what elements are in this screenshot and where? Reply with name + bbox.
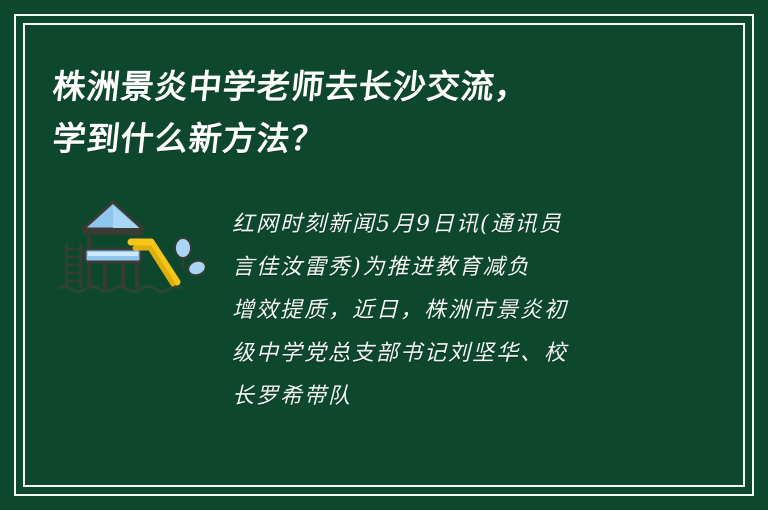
headline-block: 株洲景炎中学老师去长沙交流， 学到什么新方法？: [50, 61, 710, 165]
headline-line-1: 株洲景炎中学老师去长沙交流，: [50, 61, 715, 113]
headline-line-2: 学到什么新方法？: [50, 113, 715, 165]
poster-canvas: 株洲景炎中学老师去长沙交流， 学到什么新方法？: [0, 0, 768, 510]
roof-icon: [83, 202, 143, 229]
body-line-2: 言佳汝雷秀)为推进教育减负: [232, 246, 662, 289]
balloon-icon: [175, 238, 205, 278]
ground-line: [57, 287, 183, 292]
playground-slide-illustration: [55, 196, 205, 301]
bench-panel: [85, 249, 141, 262]
body-line-3: 增效提质，近日，株洲市景炎初: [232, 289, 662, 332]
body-line-5: 长罗希带队: [232, 375, 662, 418]
ladder-icon: [65, 244, 82, 288]
deck-beam: [83, 229, 143, 235]
body-line-4: 级中学党总支部书记刘坚华、校: [232, 332, 662, 375]
body-line-1: 红网时刻新闻5月9日讯(通讯员: [232, 203, 662, 246]
body-copy-block: 红网时刻新闻5月9日讯(通讯员 言佳汝雷秀)为推进教育减负 增效提质，近日，株洲…: [232, 203, 662, 418]
